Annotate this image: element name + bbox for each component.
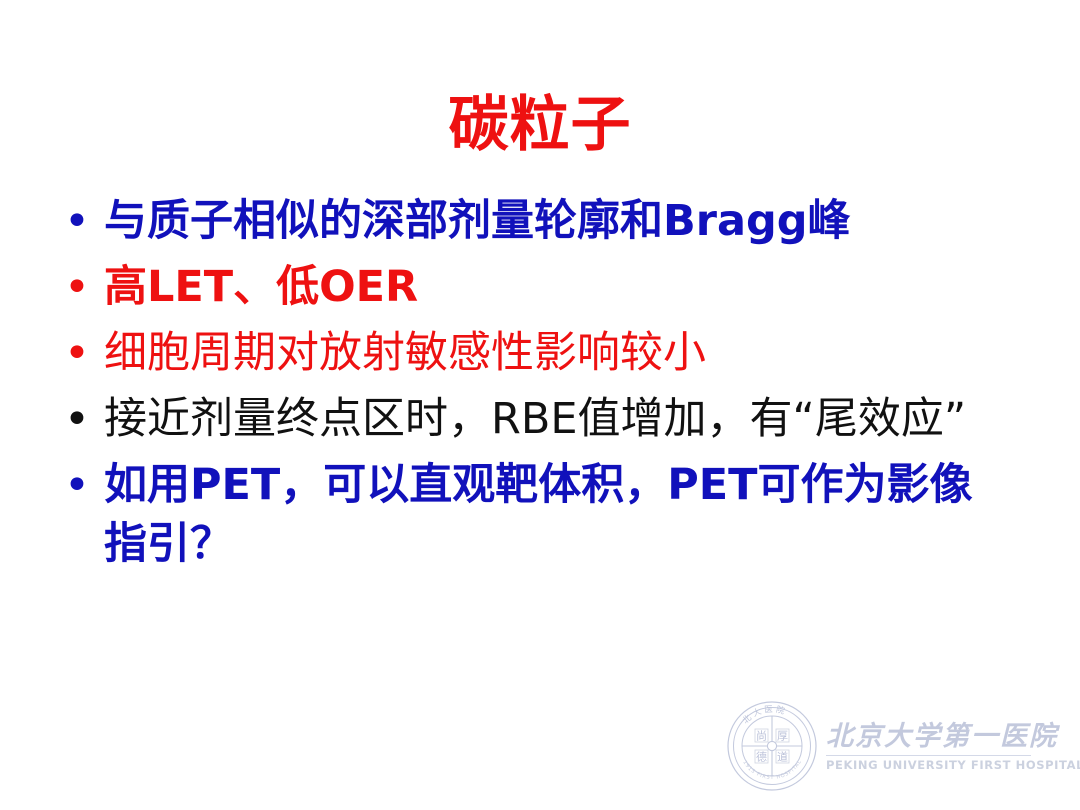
svg-text:北大医院: 北大医院	[741, 704, 788, 726]
list-item: • 如用PET，可以直观靶体积，PET可作为影像指引？	[58, 456, 1018, 574]
svg-text:厚: 厚	[777, 730, 788, 743]
slide-canvas: 碳粒子 • 与质子相似的深部剂量轮廓和Bragg峰 • 高LET、低OER • …	[0, 0, 1080, 810]
bullet-point-icon: •	[58, 258, 104, 317]
bullet-point-icon: •	[58, 390, 104, 449]
svg-text:德: 德	[756, 750, 767, 764]
hospital-seal-icon: 尚 厚 德 道 北大医院 1915 FIRST HOSPITAL	[726, 700, 818, 792]
bullet-point-icon: •	[58, 456, 104, 515]
page-title: 碳粒子	[0, 92, 1080, 159]
bullet-item-label: 如用PET，可以直观靶体积，PET可作为影像指引？	[104, 456, 984, 574]
svg-text:道: 道	[777, 750, 788, 764]
hospital-wordmark: 北京大学第一医院 PEKING UNIVERSITY FIRST HOSPITA…	[818, 720, 1080, 772]
bullet-item-label: 高LET、低OER	[104, 258, 1018, 317]
bullet-item-label: 细胞周期对放射敏感性影响较小	[104, 324, 1018, 383]
bullet-item-label: 与质子相似的深部剂量轮廓和Bragg峰	[104, 192, 1018, 251]
list-item: • 高LET、低OER	[58, 258, 1018, 317]
hospital-logo: 尚 厚 德 道 北大医院 1915 FIRST HOSPITAL 北京大学第一医…	[726, 698, 1056, 794]
hospital-name-en: PEKING UNIVERSITY FIRST HOSPITAL	[826, 758, 1080, 772]
bullet-item-label: 接近剂量终点区时，RBE值增加，有“尾效应”	[104, 390, 984, 449]
list-item: • 接近剂量终点区时，RBE值增加，有“尾效应”	[58, 390, 1018, 449]
list-item: • 与质子相似的深部剂量轮廓和Bragg峰	[58, 192, 1018, 251]
wordmark-divider	[826, 755, 1031, 756]
hospital-name-cn: 北京大学第一医院	[826, 720, 1080, 754]
svg-text:尚: 尚	[756, 729, 767, 743]
list-item: • 细胞周期对放射敏感性影响较小	[58, 324, 1018, 383]
bullet-point-icon: •	[58, 192, 104, 251]
bullet-list: • 与质子相似的深部剂量轮廓和Bragg峰 • 高LET、低OER • 细胞周期…	[58, 192, 1018, 581]
bullet-point-icon: •	[58, 324, 104, 383]
